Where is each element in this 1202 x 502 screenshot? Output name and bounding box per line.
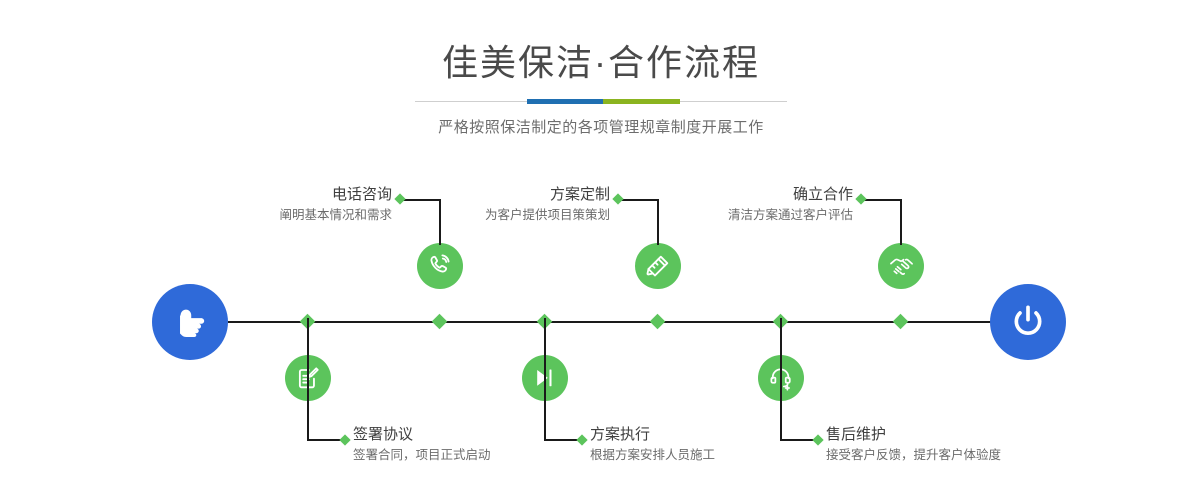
- step-icon-3[interactable]: [635, 243, 681, 289]
- step-title-3: 方案定制: [378, 185, 610, 205]
- power-icon: [1008, 302, 1048, 342]
- step-title-4: 方案执行: [590, 425, 830, 445]
- step-icon-1[interactable]: [417, 243, 463, 289]
- step-desc-6: 接受客户反馈，提升客户体验度: [826, 445, 1086, 465]
- step-title-1: 电话咨询: [160, 185, 392, 205]
- step-label-1: 电话咨询 阐明基本情况和需求: [160, 185, 392, 225]
- step-desc-4: 根据方案安排人员施工: [590, 445, 830, 465]
- step-stem-6-vertical: [780, 318, 782, 441]
- step-desc-3: 为客户提供项目策策划: [378, 205, 610, 225]
- step-stem-4-vertical: [544, 318, 546, 441]
- step-marker-2: [339, 434, 350, 445]
- axis-marker-1: [432, 314, 448, 330]
- step-stem-5-horizontal: [863, 199, 902, 201]
- flow-start-node[interactable]: [152, 284, 228, 360]
- step-title-2: 签署协议: [353, 425, 593, 445]
- process-flow-infographic: 佳美保洁·合作流程 严格按照保洁制定的各项管理规章制度开展工作: [0, 0, 1202, 502]
- axis-marker-3: [650, 314, 666, 330]
- step-icon-5[interactable]: [878, 243, 924, 289]
- step-desc-1: 阐明基本情况和需求: [160, 205, 392, 225]
- pencil-ruler-icon: [645, 253, 671, 279]
- step-title-5: 确立合作: [621, 185, 853, 205]
- flow-end-node[interactable]: [990, 284, 1066, 360]
- pointing-hand-icon: [169, 301, 211, 343]
- step-title-6: 售后维护: [826, 425, 1086, 445]
- step-label-3: 方案定制 为客户提供项目策策划: [378, 185, 610, 225]
- step-stem-5-vertical: [900, 199, 902, 245]
- step-stem-2-vertical: [307, 318, 309, 441]
- step-marker-5: [855, 193, 866, 204]
- step-label-2: 签署协议 签署合同，项目正式启动: [353, 425, 593, 465]
- phone-call-icon: [427, 253, 453, 279]
- step-label-4: 方案执行 根据方案安排人员施工: [590, 425, 830, 465]
- step-label-5: 确立合作 清洁方案通过客户评估: [621, 185, 853, 225]
- step-desc-5: 清洁方案通过客户评估: [621, 205, 853, 225]
- step-desc-2: 签署合同，项目正式启动: [353, 445, 593, 465]
- timeline: 电话咨询 阐明基本情况和需求 签署协议 签署合同，项目正式启动: [0, 0, 1202, 502]
- step-label-6: 售后维护 接受客户反馈，提升客户体验度: [826, 425, 1086, 465]
- axis-marker-5: [893, 314, 909, 330]
- handshake-icon: [888, 253, 915, 280]
- timeline-axis: [228, 321, 1000, 323]
